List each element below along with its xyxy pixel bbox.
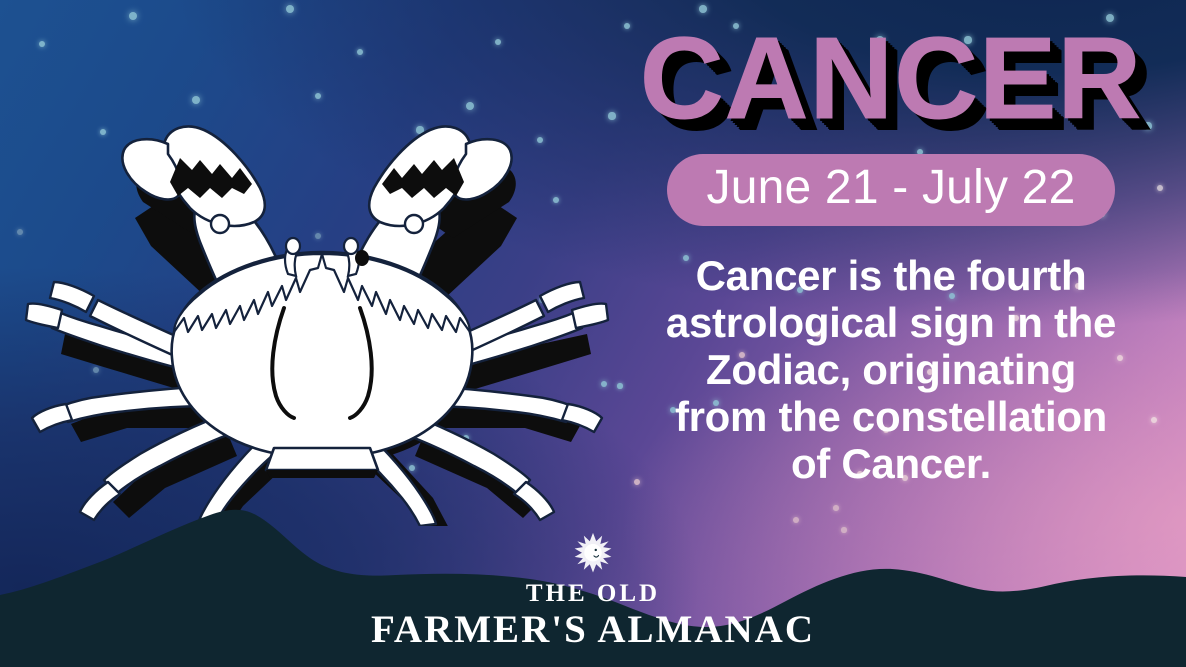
brand-tagline: THE OLD — [526, 580, 660, 608]
text-column: CANCER June 21 - July 22 Cancer is the f… — [596, 0, 1186, 560]
page-title: CANCER — [640, 22, 1142, 136]
star-dot — [286, 5, 295, 14]
crab-body-layer — [26, 126, 608, 526]
date-range-badge: June 21 - July 22 — [667, 154, 1116, 226]
star-dot — [129, 12, 137, 20]
description-text: Cancer is the fourth astrological sign i… — [656, 252, 1126, 487]
description-line: Zodiac, originating — [656, 346, 1126, 393]
crab-mouth-plate — [266, 448, 378, 470]
brand-name: FARMER'S ALMANAC — [371, 608, 815, 653]
crab-illustration — [22, 96, 642, 526]
star-dot — [39, 41, 45, 47]
brand-logo: THE OLD FARMER'S ALMANAC — [0, 532, 1186, 653]
sun-moon-face-icon — [570, 532, 616, 578]
star-dot — [495, 39, 501, 45]
description-line: of Cancer. — [656, 440, 1126, 487]
zodiac-card: CANCER June 21 - July 22 Cancer is the f… — [0, 0, 1186, 667]
description-line: from the constellation — [656, 393, 1126, 440]
description-line: astrological sign in the — [656, 299, 1126, 346]
description-line: Cancer is the fourth — [656, 252, 1126, 299]
star-dot — [357, 49, 363, 55]
